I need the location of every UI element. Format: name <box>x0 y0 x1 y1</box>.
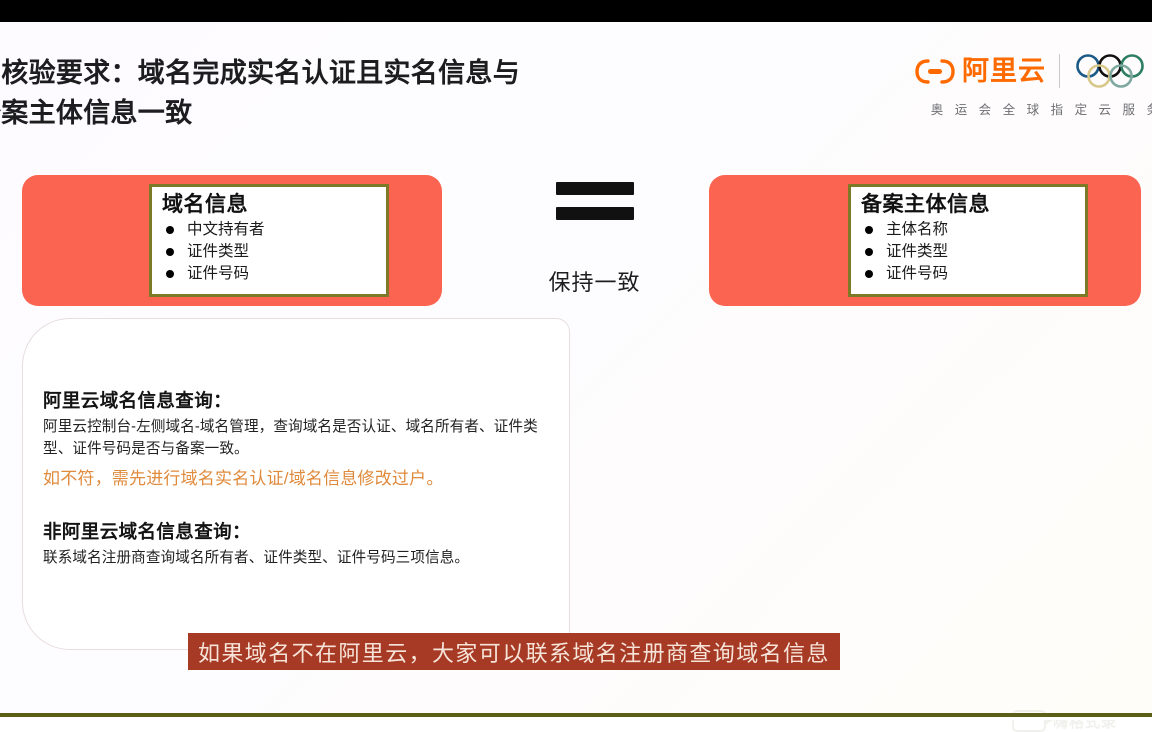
vertical-divider-icon <box>1059 54 1060 88</box>
list-item: 中文持有者 <box>162 219 372 241</box>
section-spacer <box>43 492 553 518</box>
letterbox-top-bar <box>0 0 1152 22</box>
list-item-label: 证件号码 <box>187 263 249 285</box>
list-item-label: 中文持有者 <box>187 219 265 241</box>
slide-canvas: 名核验要求：域名完成实名认证且实名信息与 备案主体信息一致 阿里云 <box>0 22 1152 713</box>
brand-name: 阿里云 <box>962 58 1046 85</box>
lookup-instructions-body: 阿里云域名信息查询： 阿里云控制台-左侧域名-域名管理，查询域名是否认证、域名所… <box>23 319 569 569</box>
list-item-label: 证件号码 <box>886 263 948 285</box>
bullet-dot-icon <box>865 248 873 256</box>
icp-subject-list: 主体名称 证件类型 证件号码 <box>861 219 1071 285</box>
mismatch-warning-text: 如不符，需先进行域名实名认证/域名信息修改过户。 <box>43 466 553 492</box>
icp-subject-info-box: 备案主体信息 主体名称 证件类型 证件号码 <box>709 175 1141 306</box>
brand-row: 阿里云 <box>915 50 1152 92</box>
bullet-dot-icon <box>166 270 174 278</box>
equality-label: 保持一致 <box>487 265 702 297</box>
list-item: 证件类型 <box>162 241 372 263</box>
icp-subject-inner-card: 备案主体信息 主体名称 证件类型 证件号码 <box>848 184 1088 297</box>
list-item: 证件号码 <box>861 263 1071 285</box>
non-aliyun-lookup-body: 联系域名注册商查询域名所有者、证件类型、证件号码三项信息。 <box>43 547 553 569</box>
aliyun-lookup-title: 阿里云域名信息查询： <box>43 387 553 413</box>
brand-lockup: 阿里云 奥 运 会 全 球 指 定 云 服 务 <box>915 50 1152 118</box>
list-item: 证件号码 <box>162 263 372 285</box>
list-item-label: 证件类型 <box>187 241 249 263</box>
aliyun-lookup-body: 阿里云控制台-左侧域名-域名管理，查询域名是否认证、域名所有者、证件类型、证件号… <box>43 416 553 460</box>
list-item: 证件类型 <box>861 241 1071 263</box>
subtitle-caption: 如果域名不在阿里云，大家可以联系域名注册商查询域名信息 <box>188 633 840 670</box>
domain-info-title: 域名信息 <box>162 193 372 218</box>
bullet-dot-icon <box>166 226 174 234</box>
aliyun-logo: 阿里云 <box>915 58 1046 85</box>
list-item-label: 证件类型 <box>886 241 948 263</box>
non-aliyun-lookup-title: 非阿里云域名信息查询： <box>43 518 553 544</box>
lookup-instructions-card: 阿里云域名信息查询： 阿里云控制台-左侧域名-域名管理，查询域名是否认证、域名所… <box>22 318 570 650</box>
page-title: 名核验要求：域名完成实名认证且实名信息与 备案主体信息一致 <box>0 54 674 134</box>
icp-subject-title: 备案主体信息 <box>861 193 1071 218</box>
domain-info-list: 中文持有者 证件类型 证件号码 <box>162 219 372 285</box>
bullet-dot-icon <box>865 270 873 278</box>
domain-info-inner-card: 域名信息 中文持有者 证件类型 证件号码 <box>149 184 389 297</box>
page-title-line-1: 名核验要求：域名完成实名认证且实名信息与 <box>0 58 520 88</box>
olympic-rings-icon <box>1073 54 1152 88</box>
bullet-dot-icon <box>865 226 873 234</box>
page-title-line-2: 备案主体信息一致 <box>0 94 674 134</box>
list-item-label: 主体名称 <box>886 219 948 241</box>
list-item: 主体名称 <box>861 219 1071 241</box>
aliyun-logo-icon <box>915 58 955 85</box>
brand-tagline: 奥 运 会 全 球 指 定 云 服 务 <box>915 99 1152 118</box>
equality-indicator: 保持一致 <box>487 182 702 297</box>
domain-info-box: 域名信息 中文持有者 证件类型 证件号码 <box>22 175 442 306</box>
equals-sign-icon <box>556 182 634 220</box>
bullet-dot-icon <box>166 248 174 256</box>
